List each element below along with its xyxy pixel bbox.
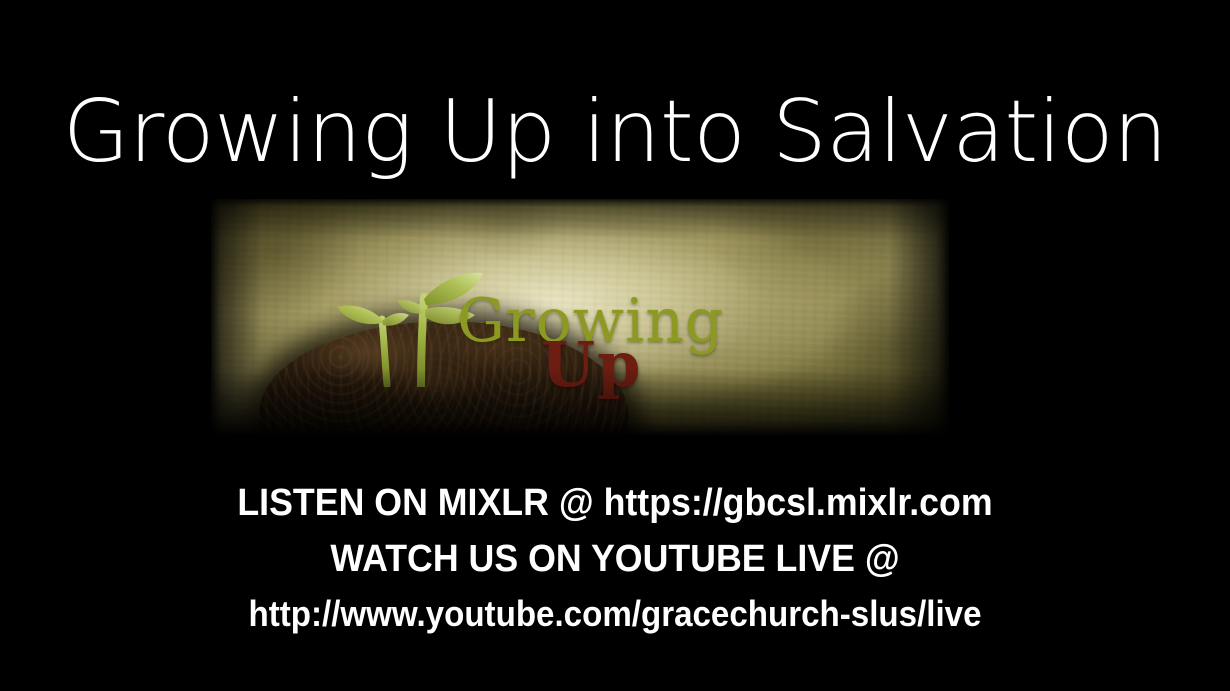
- sermon-series-image: Growing Up: [211, 199, 949, 435]
- stream-info-block: LISTEN ON MIXLR @ https://gbcsl.mixlr.co…: [0, 474, 1230, 641]
- presentation-slide: Growing Up into Salvation: [0, 0, 1230, 691]
- youtube-url-line: http://www.youtube.com/gracechurch-slus/…: [49, 587, 1181, 641]
- youtube-watch-line: WATCH US ON YOUTUBE LIVE @: [37, 532, 1193, 587]
- page-title: Growing Up into Salvation: [0, 84, 1230, 180]
- mixlr-listen-line: LISTEN ON MIXLR @ https://gbcsl.mixlr.co…: [37, 474, 1193, 532]
- image-vignette: [211, 199, 949, 435]
